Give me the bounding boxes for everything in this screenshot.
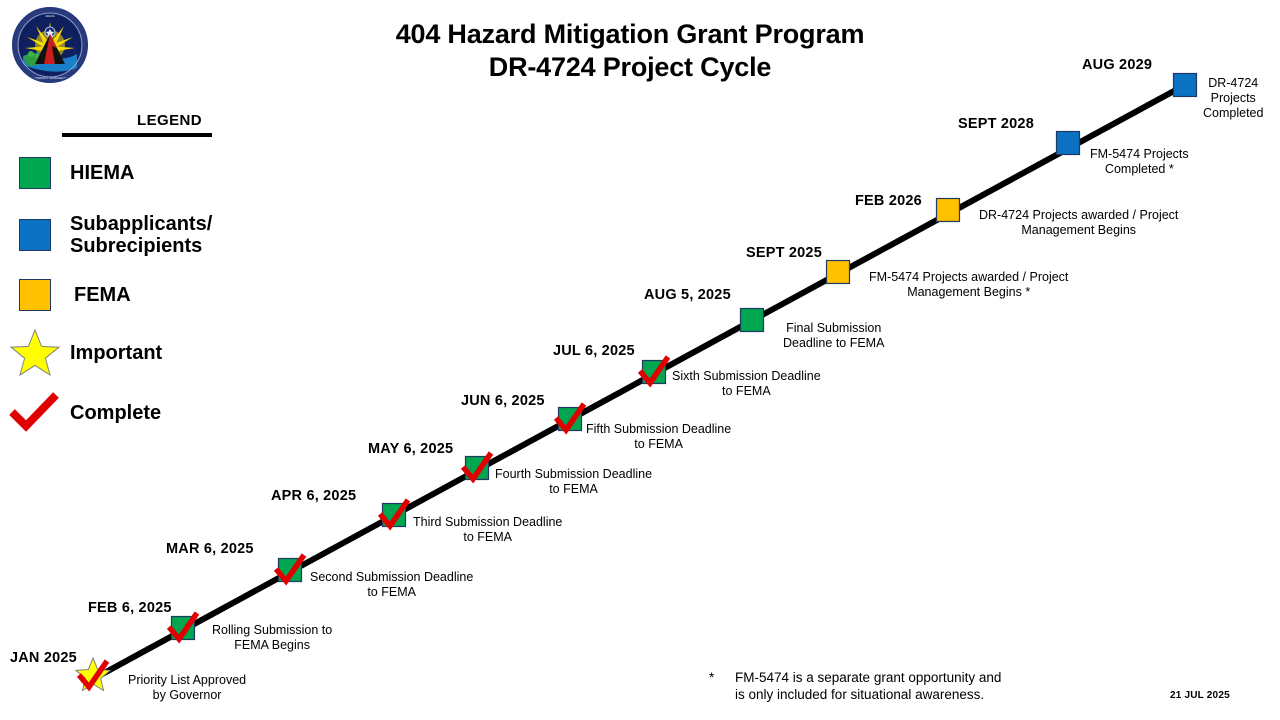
milestone-description-aug-5-2025: Final SubmissionDeadline to FEMA (783, 321, 884, 351)
milestone-description-line-1: Rolling Submission to (212, 623, 332, 638)
square-marker-icon (1057, 132, 1080, 155)
timeline-axis-and-markers (0, 0, 1280, 720)
milestone-marker-jul-6-2025[interactable] (640, 357, 668, 384)
milestone-date-mar-6-2025: MAR 6, 2025 (166, 541, 254, 557)
milestone-marker-jan-2025[interactable] (76, 658, 110, 691)
milestone-description-line-1: Third Submission Deadline (413, 515, 562, 530)
milestone-marker-apr-6-2025[interactable] (380, 500, 408, 527)
milestone-description-line-1: Fourth Submission Deadline (495, 467, 652, 482)
milestone-marker-mar-6-2025[interactable] (276, 555, 304, 582)
milestone-description-line-2: to FEMA (413, 530, 562, 545)
square-marker-icon (827, 261, 850, 284)
milestone-date-sept-2025: SEPT 2025 (746, 245, 822, 261)
milestone-description-feb-6-2025: Rolling Submission toFEMA Begins (212, 623, 332, 653)
milestone-marker-sept-2028[interactable] (1057, 132, 1080, 155)
milestone-date-sept-2028: SEPT 2028 (958, 116, 1034, 132)
milestone-description-line-1: Fifth Submission Deadline (586, 422, 731, 437)
milestone-description-line-1: DR-4724 Projects awarded / Project (979, 208, 1178, 223)
footnote-line-2: is only included for situational awarene… (735, 686, 1001, 703)
milestone-description-line-2: Management Begins * (869, 285, 1068, 300)
milestone-description-line-1: FM-5474 Projects (1090, 147, 1189, 162)
footnote-line-1: FM-5474 is a separate grant opportunity … (735, 669, 1001, 686)
square-marker-icon (1174, 74, 1197, 97)
milestone-date-feb-2026: FEB 2026 (855, 193, 922, 209)
milestone-description-line-1: Priority List Approved (128, 673, 246, 688)
milestone-description-line-2: by Governor (128, 688, 246, 703)
footnote: * FM-5474 is a separate grant opportunit… (735, 669, 1001, 703)
milestone-description-jul-6-2025: Sixth Submission Deadlineto FEMA (672, 369, 821, 399)
milestone-description-line-1: Final Submission (783, 321, 884, 336)
milestone-description-line-2: Completed * (1090, 162, 1189, 177)
milestone-date-aug-2029: AUG 2029 (1082, 57, 1152, 73)
milestone-date-aug-5-2025: AUG 5, 2025 (644, 287, 731, 303)
milestone-description-sept-2028: FM-5474 ProjectsCompleted * (1090, 147, 1189, 177)
square-marker-icon (741, 309, 764, 332)
milestone-marker-sept-2025[interactable] (827, 261, 850, 284)
milestone-description-line-2: FEMA Begins (212, 638, 332, 653)
milestone-description-line-2: Projects (1203, 91, 1263, 106)
footnote-asterisk: * (709, 669, 714, 686)
milestone-description-line-2: to FEMA (310, 585, 473, 600)
milestone-date-may-6-2025: MAY 6, 2025 (368, 441, 453, 457)
milestone-marker-aug-2029[interactable] (1174, 74, 1197, 97)
milestone-description-line-2: to FEMA (672, 384, 821, 399)
milestone-description-mar-6-2025: Second Submission Deadlineto FEMA (310, 570, 473, 600)
milestone-date-apr-6-2025: APR 6, 2025 (271, 488, 356, 504)
milestone-description-sept-2025: FM-5474 Projects awarded / ProjectManage… (869, 270, 1068, 300)
milestone-date-jan-2025: JAN 2025 (10, 650, 77, 666)
milestone-description-jan-2025: Priority List Approvedby Governor (128, 673, 246, 703)
milestone-description-line-2: to FEMA (586, 437, 731, 452)
milestone-description-line-2: Deadline to FEMA (783, 336, 884, 351)
timeline-axis-line (95, 85, 1185, 678)
milestone-description-line-2: to FEMA (495, 482, 652, 497)
milestone-marker-feb-6-2025[interactable] (169, 613, 197, 640)
milestone-description-line-3: Completed (1203, 106, 1263, 121)
document-date: 21 JUL 2025 (1170, 690, 1230, 701)
milestone-description-jun-6-2025: Fifth Submission Deadlineto FEMA (586, 422, 731, 452)
milestone-date-feb-6-2025: FEB 6, 2025 (88, 600, 172, 616)
milestone-description-may-6-2025: Fourth Submission Deadlineto FEMA (495, 467, 652, 497)
milestone-marker-feb-2026[interactable] (937, 199, 960, 222)
milestone-description-line-2: Management Begins (979, 223, 1178, 238)
milestone-date-jul-6-2025: JUL 6, 2025 (553, 343, 635, 359)
square-marker-icon (937, 199, 960, 222)
milestone-description-line-1: Sixth Submission Deadline (672, 369, 821, 384)
milestone-description-line-1: FM-5474 Projects awarded / Project (869, 270, 1068, 285)
milestone-description-feb-2026: DR-4724 Projects awarded / ProjectManage… (979, 208, 1178, 238)
milestone-description-aug-2029: DR-4724ProjectsCompleted (1203, 76, 1263, 121)
milestone-marker-jun-6-2025[interactable] (556, 404, 584, 431)
milestone-description-line-1: DR-4724 (1203, 76, 1263, 91)
milestone-description-apr-6-2025: Third Submission Deadlineto FEMA (413, 515, 562, 545)
milestone-marker-aug-5-2025[interactable] (741, 309, 764, 332)
milestone-date-jun-6-2025: JUN 6, 2025 (461, 393, 545, 409)
milestone-description-line-1: Second Submission Deadline (310, 570, 473, 585)
milestone-marker-may-6-2025[interactable] (463, 453, 491, 480)
timeline-diagram: HIEMA EMERGENCY MANAGEMENT 404 Hazard Mi… (0, 0, 1280, 720)
